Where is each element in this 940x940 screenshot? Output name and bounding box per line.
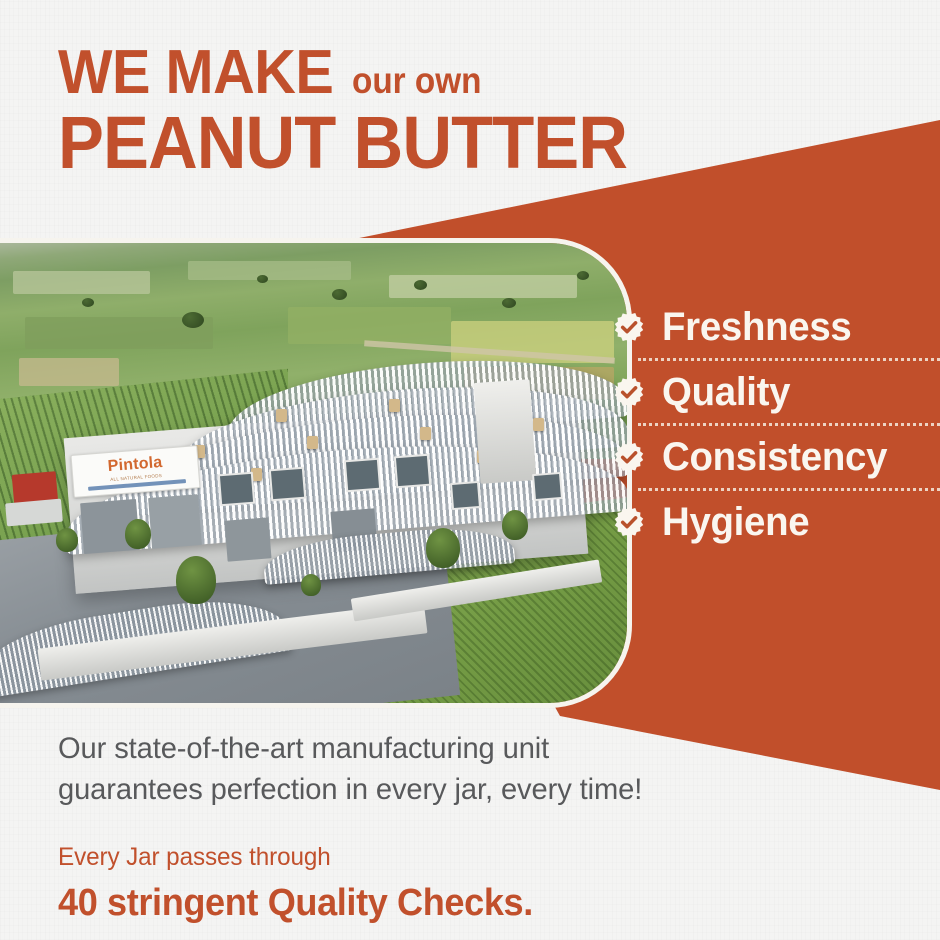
photo-window: [532, 472, 563, 501]
photo-roof-vent: [276, 409, 287, 422]
bottom-copy-block: Our state-of-the-art manufacturing unit …: [58, 728, 758, 925]
photo-tree: [82, 298, 94, 307]
check-badge-icon: [612, 440, 646, 474]
headline-our-own: our own: [352, 63, 481, 98]
quality-checklist: Freshness Quality Consistency: [612, 296, 940, 553]
photo-bush: [176, 556, 216, 604]
checklist-item-freshness[interactable]: Freshness: [612, 296, 940, 358]
photo-field-patch: [288, 307, 451, 344]
photo-roof-vent: [420, 427, 431, 440]
photo-window: [268, 467, 306, 501]
photo-window: [450, 481, 481, 510]
photo-field-patch: [13, 271, 151, 294]
photo-bush: [502, 510, 528, 540]
photo-roof-vent: [533, 418, 544, 431]
checklist-label: Consistency: [662, 437, 887, 477]
checklist-label: Hygiene: [662, 502, 809, 542]
photo-bush: [426, 528, 460, 568]
factory-photo-image: Pintola ALL NATURAL FOODS: [0, 243, 627, 703]
pintola-sign-bar: [88, 479, 186, 491]
checklist-divider: [638, 488, 940, 491]
photo-door: [224, 517, 271, 562]
photo-bush: [56, 528, 78, 552]
check-badge-icon: [612, 375, 646, 409]
headline-row-1: WE MAKE our own: [58, 44, 818, 103]
checklist-label: Quality: [662, 372, 790, 412]
promo-poster: WE MAKE our own PEANUT BUTTER: [0, 0, 940, 940]
body-text-line-2: guarantees perfection in every jar, ever…: [58, 769, 737, 810]
photo-tree: [502, 298, 516, 308]
photo-truck: [5, 498, 63, 526]
checklist-label: Freshness: [662, 307, 852, 347]
photo-roof-vent: [389, 399, 400, 412]
photo-field-patch: [19, 358, 119, 386]
photo-window: [394, 453, 432, 487]
photo-bush: [125, 519, 151, 549]
photo-window: [344, 458, 382, 492]
headline-peanut-butter: PEANUT BUTTER: [58, 109, 765, 177]
body-text-line-1: Our state-of-the-art manufacturing unit: [58, 728, 737, 769]
check-badge-icon: [612, 310, 646, 344]
photo-door: [149, 494, 203, 548]
cta-text: 40 stringent Quality Checks.: [58, 882, 723, 925]
photo-tree: [577, 271, 589, 280]
headline-we-make: WE MAKE: [58, 44, 333, 103]
checklist-item-hygiene[interactable]: Hygiene: [612, 491, 940, 553]
photo-tower: [473, 379, 536, 484]
kicker-text: Every Jar passes through: [58, 843, 737, 872]
photo-tree: [182, 312, 204, 328]
pintola-sign-name: Pintola: [107, 455, 163, 475]
checklist-item-quality[interactable]: Quality: [612, 361, 940, 423]
factory-photo: Pintola ALL NATURAL FOODS: [0, 243, 627, 703]
checklist-divider: [638, 358, 940, 361]
photo-roof-vent: [307, 436, 318, 449]
page-title: WE MAKE our own PEANUT BUTTER: [58, 44, 818, 177]
photo-tree: [414, 280, 427, 290]
photo-field-patch: [188, 261, 351, 279]
photo-window: [218, 472, 256, 506]
checklist-divider: [638, 423, 940, 426]
check-badge-icon: [612, 505, 646, 539]
checklist-item-consistency[interactable]: Consistency: [612, 426, 940, 488]
photo-bush: [301, 574, 321, 596]
